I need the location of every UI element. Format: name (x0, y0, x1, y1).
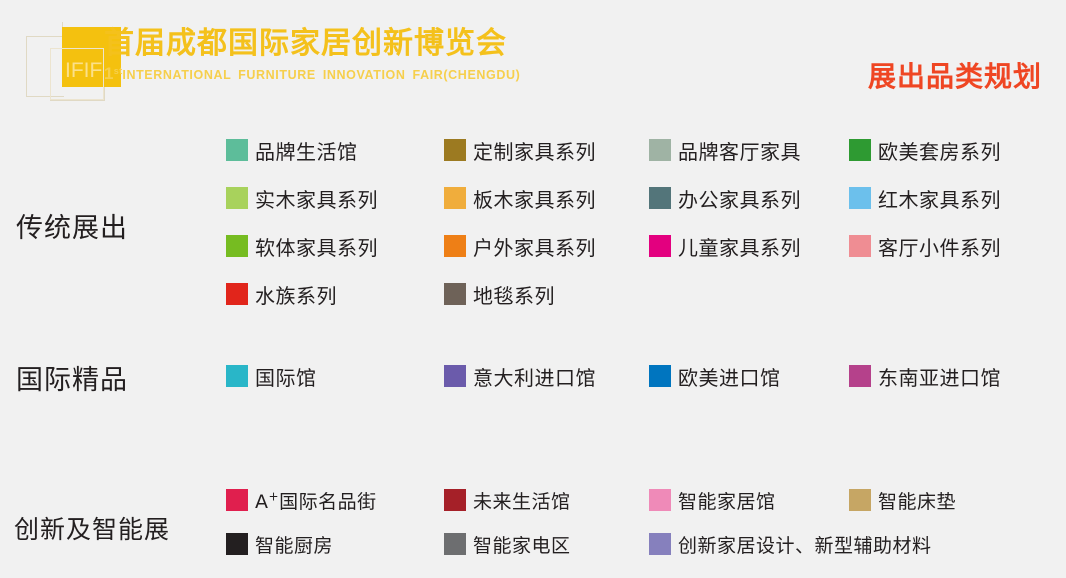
color-swatch (444, 187, 466, 209)
page-header: IFIF 首届成都国际家居创新博览会 1stINTERNATIONAL FURN… (0, 0, 1066, 112)
category-label: 智能家电区 (473, 531, 571, 558)
color-swatch (649, 533, 671, 555)
section-label: 国际精品 (16, 358, 128, 397)
color-swatch (226, 187, 248, 209)
category-item[interactable]: 实木家具系列 (226, 174, 444, 222)
category-label: 国际馆 (255, 362, 317, 391)
category-item[interactable]: 智能家居馆 (649, 478, 849, 522)
category-item[interactable]: 智能床垫 (849, 478, 1066, 522)
color-swatch (444, 533, 466, 555)
section-innovation: 创新及智能展 A+国际名品街 未来生活馆 智能家居馆 智能床垫 智能厨房 智能家… (0, 478, 1066, 570)
category-label: 品牌生活馆 (255, 136, 358, 165)
category-item[interactable]: 户外家具系列 (444, 222, 649, 270)
category-label: 地毯系列 (473, 280, 555, 309)
category-label: 智能床垫 (878, 487, 956, 514)
logo-cube-edge (26, 36, 64, 37)
category-item[interactable]: 板木家具系列 (444, 174, 649, 222)
logo-cube-edge (104, 86, 105, 101)
category-label-prefix: A (255, 491, 269, 513)
category-label: 智能家居馆 (678, 487, 776, 514)
category-label: 红木家具系列 (878, 184, 1001, 213)
category-label-main: 国际名品街 (279, 491, 377, 513)
subtitle-words: INTERNATIONAL FURNITURE INNOVATION FAIR(… (122, 68, 520, 82)
category-label: 品牌客厅家具 (678, 136, 801, 165)
category-item[interactable]: 办公家具系列 (649, 174, 849, 222)
grid-spacer (649, 270, 849, 318)
category-label: 实木家具系列 (255, 184, 378, 213)
color-swatch (444, 139, 466, 161)
category-label: 意大利进口馆 (473, 362, 596, 391)
title-group: 首届成都国际家居创新博览会 1stINTERNATIONAL FURNITURE… (104, 26, 520, 84)
color-swatch (226, 235, 248, 257)
category-item[interactable]: 未来生活馆 (444, 478, 649, 522)
category-item[interactable]: 意大利进口馆 (444, 352, 649, 400)
category-label: 办公家具系列 (678, 184, 801, 213)
color-swatch (649, 235, 671, 257)
page-title: 首届成都国际家居创新博览会 (104, 26, 520, 62)
color-swatch (444, 489, 466, 511)
category-item[interactable]: 智能厨房 (226, 522, 444, 566)
color-swatch (444, 365, 466, 387)
category-item[interactable]: 地毯系列 (444, 270, 649, 318)
category-label: 软体家具系列 (255, 232, 378, 261)
category-label-superscript: + (269, 489, 280, 503)
category-item[interactable]: 东南亚进口馆 (849, 352, 1066, 400)
color-swatch (226, 533, 248, 555)
category-label: 欧美进口馆 (678, 362, 781, 391)
color-swatch (849, 235, 871, 257)
color-swatch (849, 365, 871, 387)
color-swatch (849, 489, 871, 511)
category-label: 创新家居设计、新型辅助材料 (678, 531, 932, 558)
category-item[interactable]: 水族系列 (226, 270, 444, 318)
category-label: 客厅小件系列 (878, 232, 1001, 261)
category-label: 水族系列 (255, 280, 337, 309)
category-label: 东南亚进口馆 (878, 362, 1001, 391)
color-swatch (649, 139, 671, 161)
category-item[interactable]: 定制家具系列 (444, 126, 649, 174)
color-swatch (444, 235, 466, 257)
section-items-grid: A+国际名品街 未来生活馆 智能家居馆 智能床垫 智能厨房 智能家电区 创新家居… (226, 478, 1066, 566)
section-international: 国际精品 国际馆 意大利进口馆 欧美进口馆 东南亚进口馆 (0, 340, 1066, 410)
section-items-grid: 国际馆 意大利进口馆 欧美进口馆 东南亚进口馆 (226, 352, 1066, 400)
section-label: 创新及智能展 (14, 510, 170, 546)
section-traditional: 传统展出 品牌生活馆 定制家具系列 品牌客厅家具 欧美套房系列 实木家具系列 板… (0, 126, 1066, 311)
category-item[interactable]: 智能家电区 (444, 522, 649, 566)
logo-cube-edge (26, 36, 27, 96)
category-item[interactable]: 欧美进口馆 (649, 352, 849, 400)
category-item[interactable]: 国际馆 (226, 352, 444, 400)
color-swatch (226, 139, 248, 161)
color-swatch (444, 283, 466, 305)
color-swatch (226, 489, 248, 511)
category-item[interactable]: 客厅小件系列 (849, 222, 1066, 270)
category-item[interactable]: A+国际名品街 (226, 478, 444, 522)
category-label: 定制家具系列 (473, 136, 596, 165)
plan-title: 展出品类规划 (868, 55, 1042, 95)
section-label: 传统展出 (16, 206, 128, 245)
category-label: 儿童家具系列 (678, 232, 801, 261)
color-swatch (849, 139, 871, 161)
page-subtitle: 1stINTERNATIONAL FURNITURE INNOVATION FA… (104, 64, 520, 84)
color-swatch (649, 187, 671, 209)
color-swatch (226, 365, 248, 387)
logo-cube-edge (50, 100, 104, 101)
category-label: 板木家具系列 (473, 184, 596, 213)
subtitle-ordinal: 1 (104, 64, 114, 83)
category-label: 户外家具系列 (473, 232, 596, 261)
color-swatch (849, 187, 871, 209)
category-label: 欧美套房系列 (878, 136, 1001, 165)
category-item[interactable]: 儿童家具系列 (649, 222, 849, 270)
category-label: 未来生活馆 (473, 487, 571, 514)
color-swatch (649, 365, 671, 387)
category-item[interactable]: 软体家具系列 (226, 222, 444, 270)
category-item[interactable]: 品牌客厅家具 (649, 126, 849, 174)
grid-spacer (849, 270, 1066, 318)
section-items-grid: 品牌生活馆 定制家具系列 品牌客厅家具 欧美套房系列 实木家具系列 板木家具系列… (226, 126, 1066, 318)
color-swatch (226, 283, 248, 305)
category-label: A+国际名品街 (255, 487, 377, 514)
category-item[interactable]: 创新家居设计、新型辅助材料 (649, 522, 1066, 566)
category-item[interactable]: 欧美套房系列 (849, 126, 1066, 174)
category-item[interactable]: 品牌生活馆 (226, 126, 444, 174)
color-swatch (649, 489, 671, 511)
category-item[interactable]: 红木家具系列 (849, 174, 1066, 222)
category-label: 智能厨房 (255, 531, 333, 558)
